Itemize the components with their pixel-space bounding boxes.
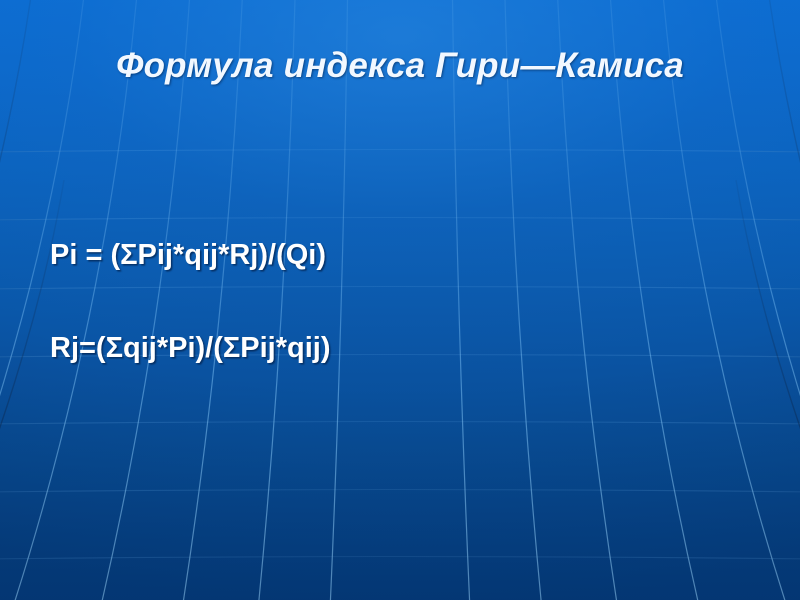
slide-body: Pi = (ΣPij*qij*Rj)/(Qi) Rj=(Σqij*Pi)/(ΣP… bbox=[50, 238, 750, 367]
slide-canvas: Формула индекса Гири—Камиса Pi = (ΣPij*q… bbox=[0, 0, 800, 600]
slide-title-text: Формула индекса Гири—Камиса bbox=[116, 46, 684, 86]
formula-spacer bbox=[50, 273, 750, 331]
slide-title: Формула индекса Гири—Камиса bbox=[40, 46, 760, 86]
formula-line-2: Rj=(Σqij*Pi)/(ΣPij*qij) bbox=[50, 331, 750, 366]
formula-line-1: Pi = (ΣPij*qij*Rj)/(Qi) bbox=[50, 238, 750, 273]
